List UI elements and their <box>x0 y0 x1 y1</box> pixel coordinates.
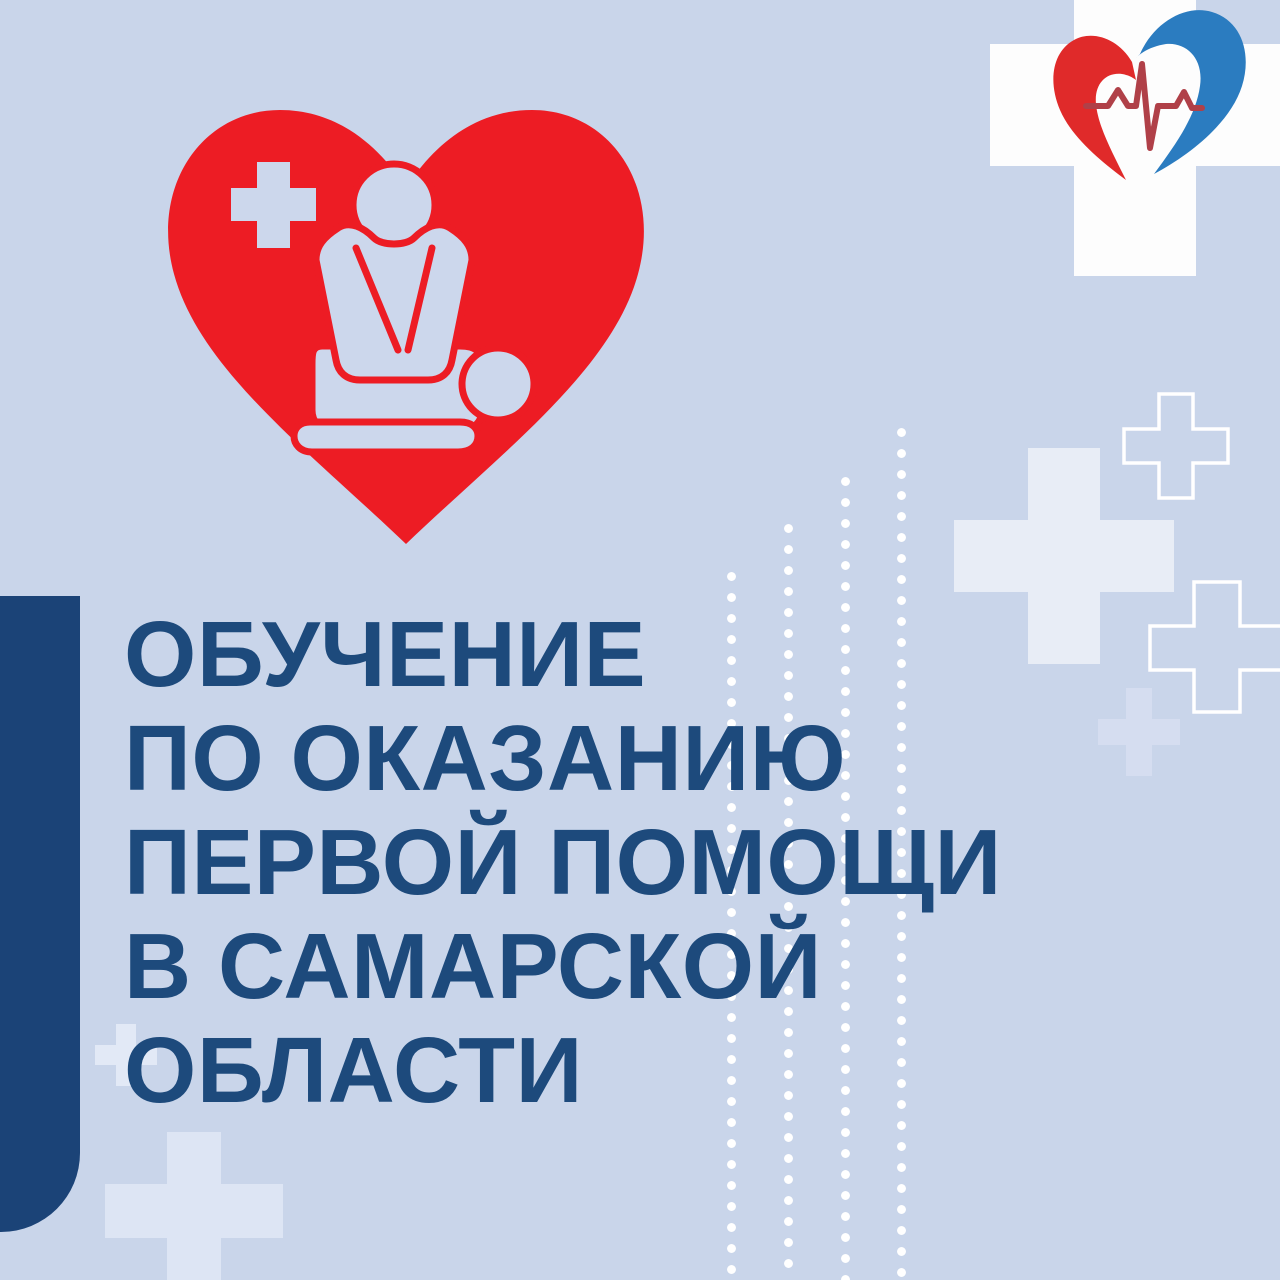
page-title: ОБУЧЕНИЕ ПО ОКАЗАНИЮ ПЕРВОЙ ПОМОЩИ В САМ… <box>124 602 1184 1122</box>
decorative-cross-icon-bottom-left <box>105 1132 283 1280</box>
cpr-heart-icon <box>160 92 652 544</box>
navy-side-bar <box>0 596 80 1232</box>
poster-canvas: ОБУЧЕНИЕ ПО ОКАЗАНИЮ ПЕРВОЙ ПОМОЩИ В САМ… <box>0 0 1280 1280</box>
heart-ecg-logo-icon <box>990 0 1280 288</box>
decorative-cross-icon-outline-1 <box>1122 392 1230 500</box>
